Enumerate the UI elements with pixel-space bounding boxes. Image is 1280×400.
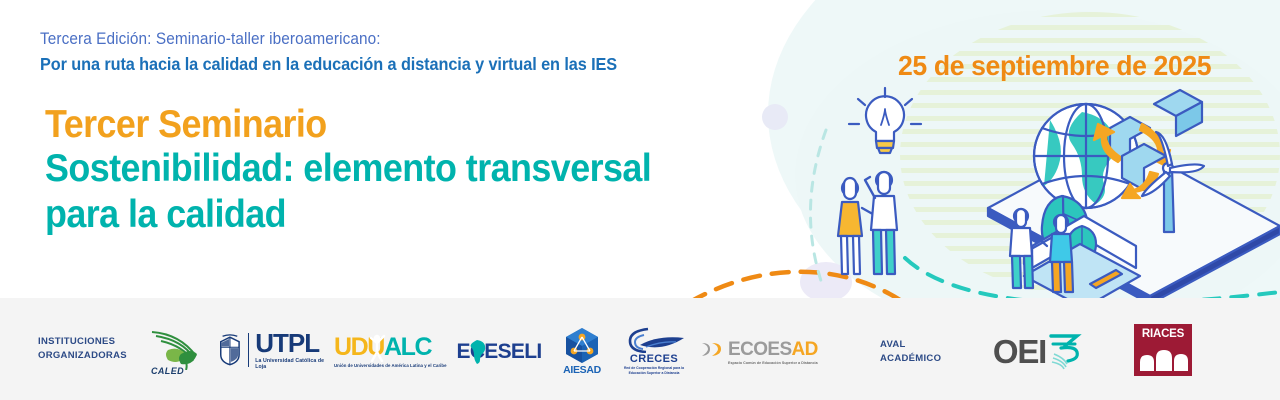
ecoesad-mark-icon <box>700 341 724 358</box>
aiesad-cube-icon <box>563 326 601 364</box>
udualc-wordmark-part2: ALC <box>384 335 431 360</box>
caled-mark-icon <box>148 328 208 370</box>
utpl-tagline: La Universidad Católica de Loja <box>255 358 330 370</box>
event-kicker: Tercera Edición: Seminario-taller iberoa… <box>40 28 747 50</box>
creces-tagline: Red de Cooperación Regional para la Educ… <box>618 366 690 375</box>
caled-wordmark: CALED <box>151 366 184 376</box>
udualc-figure-icon <box>368 332 386 362</box>
endorsement-label: AVAL ACADÉMICO <box>880 338 941 366</box>
title-line-seminar: Tercer Seminario <box>45 103 740 147</box>
event-banner: Tercera Edición: Seminario-taller iberoa… <box>0 0 1280 400</box>
organizers-label-line2: ORGANIZADORAS <box>38 349 127 363</box>
event-subtitle: Por una ruta hacia la calidad en la educ… <box>40 52 747 77</box>
logo-creces[interactable]: CRECES Red de Cooperación Regional para … <box>618 326 690 376</box>
creces-wave-icon <box>624 327 684 353</box>
title-line-theme-1: Sostenibilidad: elemento transversal <box>45 146 740 192</box>
udualc-tagline: Unión de Universidades de América Latina… <box>334 363 447 368</box>
endorsement-label-line1: AVAL <box>880 338 941 352</box>
ecoesad-wordmark-part2: AD <box>792 340 818 359</box>
utpl-wordmark: UTPL <box>255 330 319 356</box>
creces-wordmark: CRECES <box>630 353 678 365</box>
organizers-label-line1: INSTITUCIONES <box>38 335 127 349</box>
logo-ecoesad[interactable]: ECOES AD Espacio Común de Educación Supe… <box>700 336 818 368</box>
logo-udualc[interactable]: UDU ALC Unión de Universidades de Améric… <box>334 330 450 372</box>
utpl-crest-icon <box>218 333 242 367</box>
oei-75-anniversary-icon <box>1049 332 1083 370</box>
title-line-theme-2: para la calidad <box>45 192 740 238</box>
riaces-wordmark: RIACES <box>1142 328 1184 340</box>
logo-utpl[interactable]: UTPL La Universidad Católica de Loja <box>218 328 330 372</box>
person-man-figure <box>865 172 897 274</box>
oei-wordmark: OEI <box>993 335 1046 368</box>
riaces-arches-icon <box>1138 343 1188 371</box>
logo-aiesad[interactable]: AIESAD <box>558 325 606 377</box>
endorsement-label-line2: ACADÉMICO <box>880 352 941 366</box>
event-title: Tercer Seminario Sostenibilidad: element… <box>45 103 800 239</box>
logo-eceseli[interactable]: ECESELI <box>452 336 546 366</box>
logo-caled[interactable]: CALED <box>148 322 208 376</box>
sustainability-illustration <box>818 80 1280 300</box>
aiesad-wordmark: AIESAD <box>563 364 601 376</box>
organizers-label: INSTITUCIONES ORGANIZADORAS <box>38 335 127 363</box>
utpl-divider <box>248 333 249 367</box>
ecoesad-tagline: Espacio Común de Educación Superior a Di… <box>728 361 818 365</box>
event-date: 25 de septiembre de 2025 <box>898 50 1211 82</box>
logo-riaces[interactable]: RIACES <box>1134 324 1192 376</box>
banner-text-block: Tercera Edición: Seminario-taller iberoa… <box>40 28 800 238</box>
logo-oei[interactable]: OEI <box>976 331 1100 371</box>
eceseli-map-icon <box>469 338 489 364</box>
lightbulb-icon <box>849 88 921 153</box>
ecoesad-wordmark-part1: ECOES <box>728 340 792 359</box>
